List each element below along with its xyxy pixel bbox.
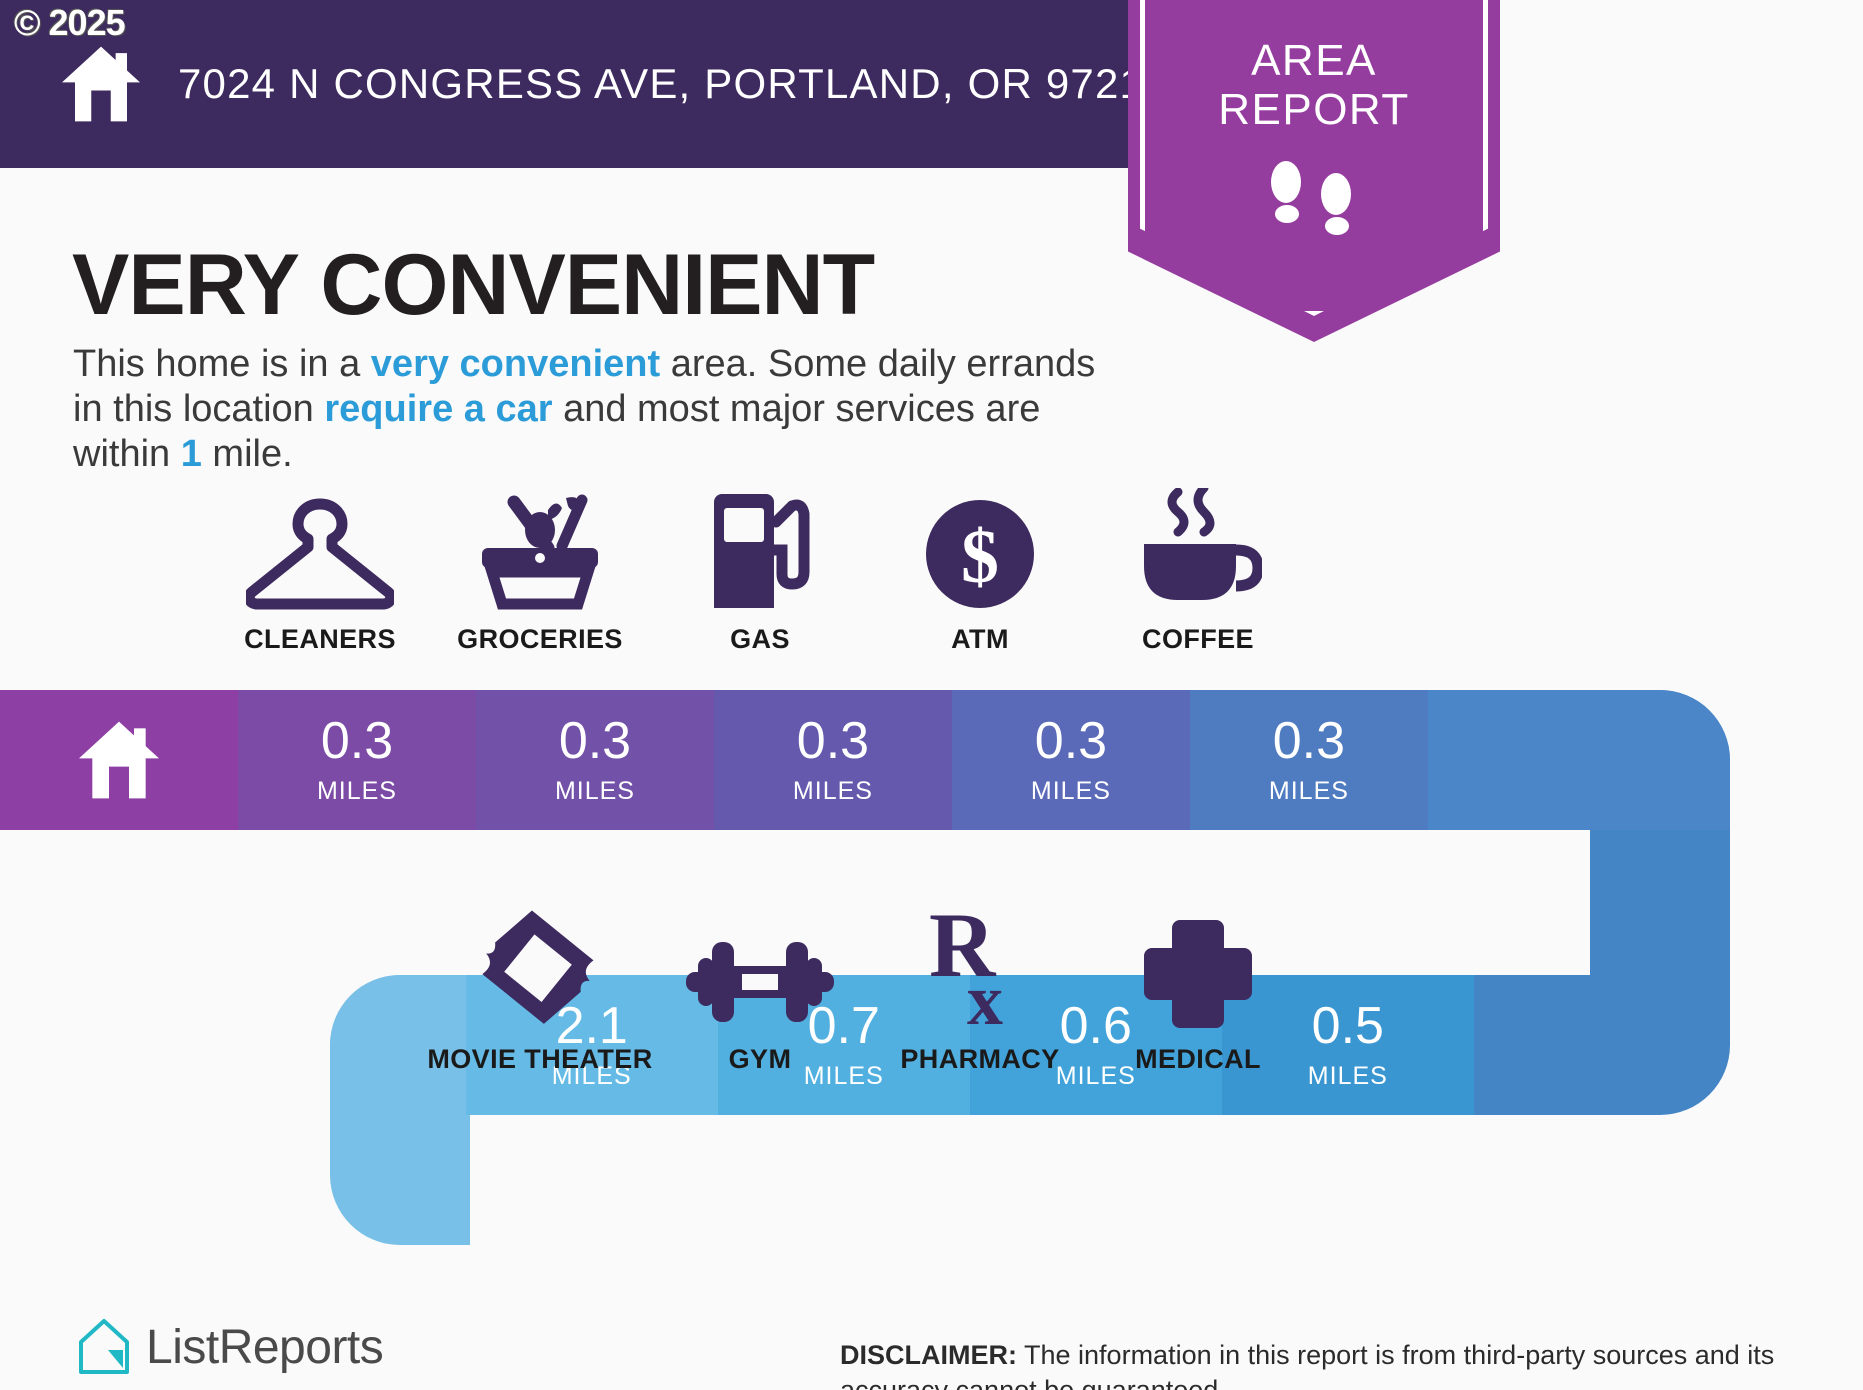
desc-highlight-3: 1 <box>181 433 202 475</box>
distance-segment-atm: 0.3 MILES <box>952 690 1190 830</box>
amenity-icons-row-1: CLEANERS GROCERIES <box>0 490 1863 680</box>
distance-value: 0.3 <box>1273 715 1345 767</box>
listreports-logo: ListReports <box>78 1318 383 1376</box>
listreports-wordmark: ListReports <box>146 1320 383 1375</box>
disclaimer: DISCLAIMER: The information in this repo… <box>840 1338 1850 1390</box>
svg-text:$: $ <box>961 515 999 599</box>
badge-line-2: REPORT <box>1140 85 1488 134</box>
desc-part-1: This home is in a <box>73 343 371 385</box>
desc-highlight-2: require a car <box>324 388 552 430</box>
home-icon <box>76 720 162 800</box>
svg-text:x: x <box>967 960 1003 1030</box>
distance-unit: MILES <box>317 777 397 806</box>
distance-unit: MILES <box>1269 777 1349 806</box>
distance-value: 0.3 <box>1035 715 1107 767</box>
badge-line-1: AREA <box>1140 36 1488 85</box>
distance-value: 0.3 <box>321 715 393 767</box>
distance-unit: MILES <box>1031 777 1111 806</box>
page-title: VERY CONVENIENT <box>72 236 874 335</box>
footprints-icon <box>1262 160 1366 242</box>
coffee-icon <box>1068 490 1328 610</box>
copyright-label: © 2025 <box>14 2 125 44</box>
home-icon <box>60 45 142 123</box>
distance-segment-groceries: 0.3 MILES <box>476 690 714 830</box>
badge-title: AREA REPORT <box>1140 36 1488 135</box>
listreports-house-icon <box>78 1318 130 1376</box>
amenity-icons-row-2: MOVIE THEATER GYM R x <box>0 910 1863 1100</box>
area-report-page: 7024 N CONGRESS AVE, PORTLAND, OR 97217 … <box>0 0 1863 1390</box>
cross-icon <box>1068 910 1328 1030</box>
desc-part-4: mile. <box>202 433 293 475</box>
distance-value: 0.3 <box>559 715 631 767</box>
home-marker-segment <box>0 690 238 830</box>
amenity-medical: MEDICAL <box>1068 910 1328 1075</box>
distance-value: 0.3 <box>797 715 869 767</box>
desc-highlight-1: very convenient <box>371 343 660 385</box>
distance-segment-gas: 0.3 MILES <box>714 690 952 830</box>
distance-unit: MILES <box>793 777 873 806</box>
header-bar: 7024 N CONGRESS AVE, PORTLAND, OR 97217 <box>0 0 1242 168</box>
distance-segment-cleaners: 0.3 MILES <box>238 690 476 830</box>
amenity-coffee: COFFEE <box>1068 490 1328 655</box>
disclaimer-label: DISCLAIMER: <box>840 1340 1017 1370</box>
property-address: 7024 N CONGRESS AVE, PORTLAND, OR 97217 <box>178 60 1169 108</box>
distance-unit: MILES <box>555 777 635 806</box>
track-tail-right <box>1428 690 1730 830</box>
description-text: This home is in a very convenient area. … <box>73 342 1133 476</box>
amenity-label: MEDICAL <box>1068 1044 1328 1075</box>
amenity-label: COFFEE <box>1068 624 1328 655</box>
distance-row-1: 0.3 MILES 0.3 MILES 0.3 MILES 0.3 MILES … <box>0 690 1730 830</box>
distance-segment-coffee: 0.3 MILES <box>1190 690 1428 830</box>
